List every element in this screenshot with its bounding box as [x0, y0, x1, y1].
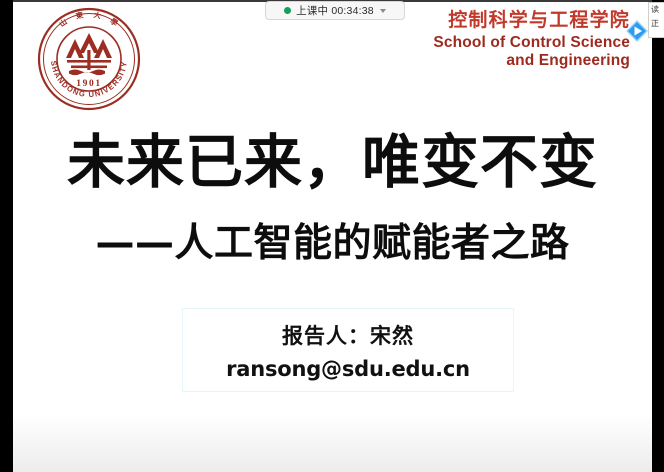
letterbox-bar-left	[0, 0, 13, 472]
side-panel-line1: 读	[651, 3, 664, 17]
school-name-en-line1: School of Control Science	[433, 34, 630, 51]
chevron-down-icon[interactable]	[380, 9, 386, 13]
shandong-university-seal: 1901 山 東 大 學 SHANDONG UNIVERSITY	[35, 6, 143, 112]
speaker-email: ransong@sdu.edu.cn	[226, 357, 470, 381]
svg-text:1901: 1901	[76, 79, 101, 89]
slide-subtitle: ——人工智能的赋能者之路	[13, 224, 652, 263]
play-button-icon[interactable]	[624, 18, 650, 44]
class-status-pill[interactable]: 上课中 00:34:38	[265, 1, 405, 20]
letterbox-bar-right	[652, 0, 664, 472]
school-name-cn: 控制科学与工程学院	[433, 10, 630, 31]
recording-dot-icon	[284, 7, 291, 14]
speaker-card: 报告人：宋然 ransong@sdu.edu.cn	[182, 308, 514, 392]
screen-root: 1901 山 東 大 學 SHANDONG UNIVERSITY 控制科学与工程…	[0, 0, 664, 472]
side-panel-peek[interactable]: 读 正	[648, 2, 664, 38]
class-status-text: 上课中 00:34:38	[296, 3, 374, 18]
slide-title: 未来已来，唯变不变	[13, 133, 652, 191]
speaker-name: 报告人：宋然	[282, 320, 414, 350]
school-name-en-line2: and Engineering	[433, 52, 630, 69]
side-panel-line2: 正	[651, 17, 664, 31]
shared-slide: 1901 山 東 大 學 SHANDONG UNIVERSITY 控制科学与工程…	[13, 0, 652, 472]
school-header: 控制科学与工程学院 School of Control Science and …	[433, 10, 630, 69]
